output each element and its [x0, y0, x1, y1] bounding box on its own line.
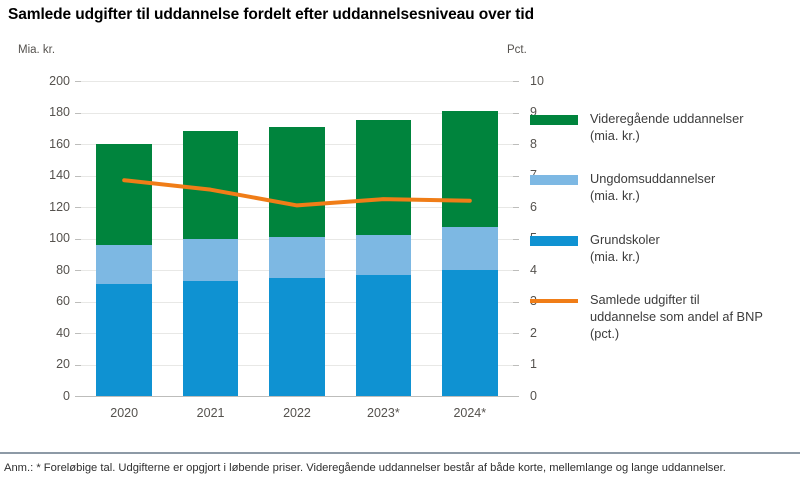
y-axis-left-tick-label: 200: [49, 75, 70, 88]
legend-swatch-icon: [530, 115, 578, 125]
line-series-layer: [81, 81, 513, 396]
axis-tick-right: [513, 270, 519, 271]
y-axis-right-caption: Pct.: [507, 44, 527, 56]
axis-tick-right: [513, 176, 519, 177]
page-title: Samlede udgifter til uddannelse fordelt …: [8, 6, 788, 24]
legend-label: Grundskoler(mia. kr.): [590, 231, 798, 265]
axis-tick-right: [513, 207, 519, 208]
axis-tick-right: [513, 113, 519, 114]
legend-swatch-icon: [530, 175, 578, 185]
legend-label: Ungdomsuddannelser(mia. kr.): [590, 170, 798, 204]
y-axis-left-tick-label: 180: [49, 106, 70, 119]
legend-item-ungdomsuddannelser[interactable]: Ungdomsuddannelser(mia. kr.): [530, 170, 798, 204]
axis-tick-right: [513, 239, 519, 240]
axis-tick-right: [513, 81, 519, 82]
axis-tick-right: [513, 302, 519, 303]
y-axis-left-tick-label: 0: [63, 390, 70, 403]
y-axis-right-tick-label: 10: [530, 75, 544, 88]
y-axis-left-tick-label: 60: [56, 295, 70, 308]
x-axis-tick-label: 2020: [81, 406, 167, 420]
x-axis-tick-label: 2021: [167, 406, 253, 420]
y-axis-left-tick-label: 40: [56, 327, 70, 340]
legend-label: Samlede udgifter tiluddannelse som andel…: [590, 291, 798, 342]
axis-tick-right: [513, 365, 519, 366]
footnote-text: Anm.: * Foreløbige tal. Udgifterne er op…: [4, 461, 796, 477]
y-axis-left-tick-label: 20: [56, 358, 70, 371]
y-axis-left-tick-label: 140: [49, 169, 70, 182]
x-axis-tick-label: 2023*: [340, 406, 426, 420]
y-axis-left-tick-label: 80: [56, 264, 70, 277]
legend-swatch-icon: [530, 236, 578, 246]
footnote-divider: [0, 452, 800, 454]
axis-tick-right: [513, 396, 519, 397]
legend-item-videregaaende[interactable]: Videregående uddannelser(mia. kr.): [530, 110, 798, 144]
legend-item-andel-bnp[interactable]: Samlede udgifter tiluddannelse som andel…: [530, 291, 798, 342]
axis-tick-left: [75, 396, 81, 397]
axis-tick-right: [513, 144, 519, 145]
y-axis-left-tick-label: 160: [49, 138, 70, 151]
legend-item-grundskoler[interactable]: Grundskoler(mia. kr.): [530, 231, 798, 265]
y-axis-left-tick-label: 120: [49, 201, 70, 214]
line-series-path: [124, 180, 470, 205]
y-axis-right-tick-label: 0: [530, 390, 537, 403]
legend-label: Videregående uddannelser(mia. kr.): [590, 110, 798, 144]
y-axis-left-tick-label: 100: [49, 232, 70, 245]
axis-tick-right: [513, 333, 519, 334]
axis-baseline: [81, 396, 513, 397]
x-axis-tick-label: 2022: [254, 406, 340, 420]
plot-area: 0020140260380410051206140716081809200102…: [81, 81, 513, 396]
y-axis-left-caption: Mia. kr.: [18, 44, 55, 56]
chart-legend: Videregående uddannelser(mia. kr.)Ungdom…: [530, 110, 798, 368]
legend-swatch-icon: [530, 299, 578, 303]
chart-page: Samlede udgifter til uddannelse fordelt …: [0, 0, 800, 495]
x-axis-tick-label: 2024*: [427, 406, 513, 420]
